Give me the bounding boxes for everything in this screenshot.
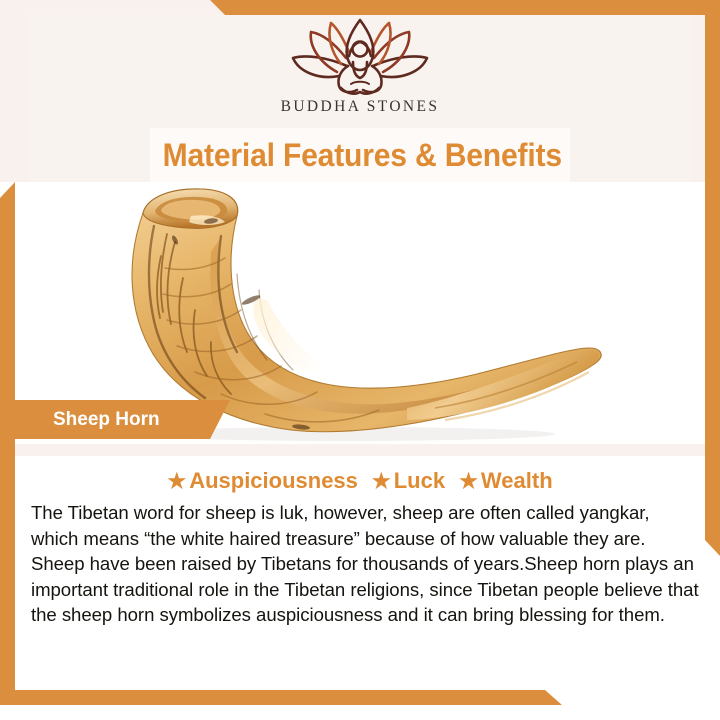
benefit-item: ★Luck xyxy=(372,468,445,494)
page-title: Material Features & Benefits xyxy=(163,128,558,182)
star-icon: ★ xyxy=(167,470,186,493)
frame-band-left xyxy=(0,182,15,690)
brand-name: BUDDHA STONES xyxy=(0,98,720,116)
lotus-meditation-icon xyxy=(285,18,435,96)
benefit-item: ★Wealth xyxy=(459,468,553,494)
product-label: Sheep Horn xyxy=(15,400,210,439)
section-divider xyxy=(15,444,705,456)
benefits-description: The Tibetan word for sheep is luk, howev… xyxy=(31,500,699,628)
star-icon: ★ xyxy=(459,470,478,493)
frame-band-bottom xyxy=(0,690,720,705)
benefit-item: ★Auspiciousness xyxy=(167,468,358,494)
benefit-label: Wealth xyxy=(481,468,553,493)
benefits-section: ★Auspiciousness★Luck★Wealth The Tibetan … xyxy=(15,456,705,690)
benefit-label: Auspiciousness xyxy=(189,468,358,493)
frame-band-right xyxy=(705,0,720,556)
benefits-list: ★Auspiciousness★Luck★Wealth xyxy=(15,468,705,494)
brand-logo-block: BUDDHA STONES xyxy=(0,18,720,116)
star-icon: ★ xyxy=(372,470,391,493)
benefit-label: Luck xyxy=(394,468,445,493)
poster-root: BUDDHA STONES Material Features & Benefi… xyxy=(0,0,720,720)
